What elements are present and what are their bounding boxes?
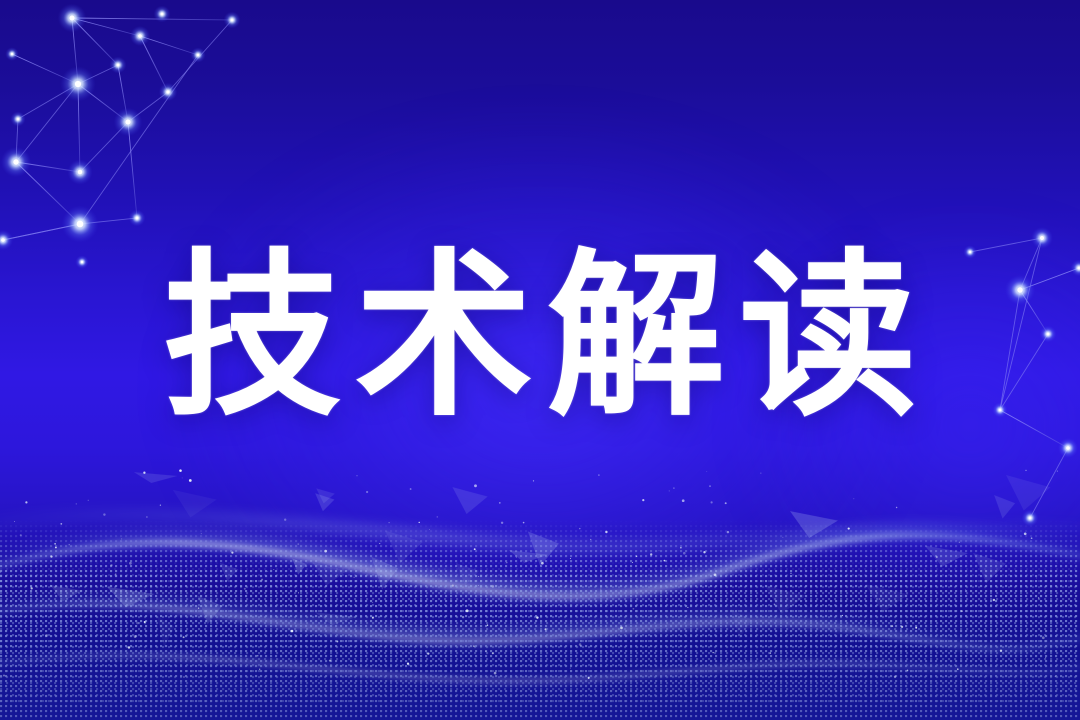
particle-wave — [0, 460, 1080, 720]
wave-crest-ribbons — [0, 460, 1080, 720]
wave-dot-mesh-front — [0, 520, 1080, 720]
poster-canvas: 技术解读 — [0, 0, 1080, 720]
wave-dot-mesh-back — [0, 556, 1080, 706]
title-block: 技术解读 — [0, 246, 1080, 428]
wave-sparkle-particles — [0, 460, 1080, 720]
page-title: 技术解读 — [149, 246, 931, 428]
wave-shading — [0, 520, 1080, 720]
